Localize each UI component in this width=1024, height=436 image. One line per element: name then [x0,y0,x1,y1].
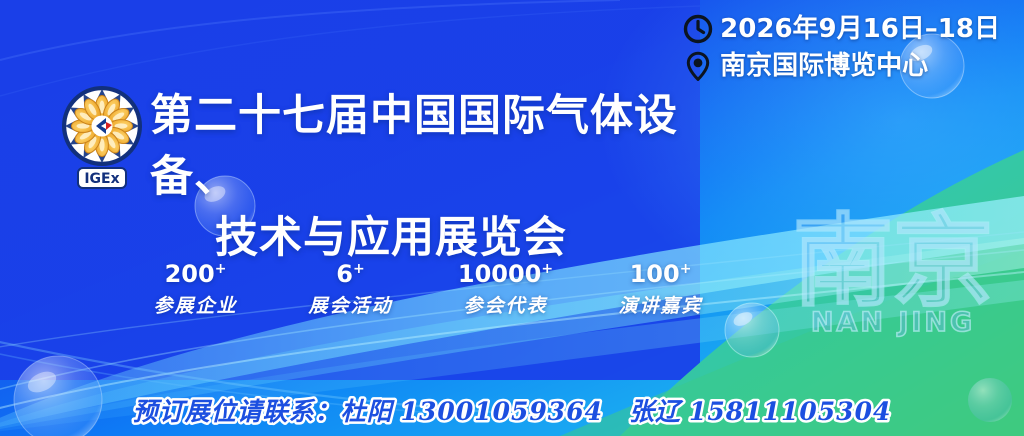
headline-line-2: 技术与应用展览会 [150,208,710,269]
event-date-row: 2026年9月16日–18日 [683,14,1000,44]
event-banner: IGEx 第二十七届中国国际气体设备、 技术与应用展览会 2026年9月16日–… [0,0,1024,436]
stat-number: 10000+ [428,262,583,287]
stat-number: 200+ [118,262,273,287]
stat-item-exhibitors: 200+ 参展企业 [118,262,273,318]
igex-badge-text: IGEx [84,171,119,187]
stat-label: 展会活动 [273,291,428,318]
igex-logo: IGEx [56,82,148,190]
event-venue-text: 南京国际博览中心 [720,51,928,81]
igex-badge: IGEx [78,168,126,188]
event-venue-row: 南京国际博览中心 [683,51,1000,81]
page-title: 第二十七届中国国际气体设备、 技术与应用展览会 [150,86,710,269]
event-meta: 2026年9月16日–18日 南京国际博览中心 [683,14,1000,88]
contact-p1-phone-fill: 13001059364 [401,397,603,426]
headline-line-1: 第二十七届中国国际气体设备、 [150,86,710,208]
stat-label: 演讲嘉宾 [583,291,738,318]
stat-label: 参会代表 [428,291,583,318]
stat-item-attendees: 10000+ 参会代表 [428,262,583,318]
stat-item-activities: 6+ 展会活动 [273,262,428,318]
stat-label: 参展企业 [118,291,273,318]
contact-p2-phone-fill: 15811105304 [689,397,891,426]
contact-line: 预订展位请联系：杜阳13001059364张辽15811105304 预订展位请… [0,388,1024,432]
contact-text-svg: 预订展位请联系：杜阳13001059364张辽15811105304 预订展位请… [0,388,1024,432]
location-pin-icon [683,51,713,81]
svg-text:预订展位请联系：杜阳13001059364张辽1581110: 预订展位请联系：杜阳13001059364张辽15811105304 [133,397,892,426]
contact-prefix-fill: 预订展位请联系： [133,397,341,426]
stat-item-speakers: 100+ 演讲嘉宾 [583,262,738,318]
contact-p2-name-fill: 张辽 [629,397,684,426]
stat-number: 6+ [273,262,428,287]
stats-row: 200+ 参展企业 6+ 展会活动 10000+ 参会代表 100+ 演讲嘉宾 [118,262,738,318]
contact-p1-name-fill: 杜阳 [341,397,396,426]
event-date-text: 2026年9月16日–18日 [720,14,1000,44]
clock-icon [683,14,713,44]
stat-number: 100+ [583,262,738,287]
